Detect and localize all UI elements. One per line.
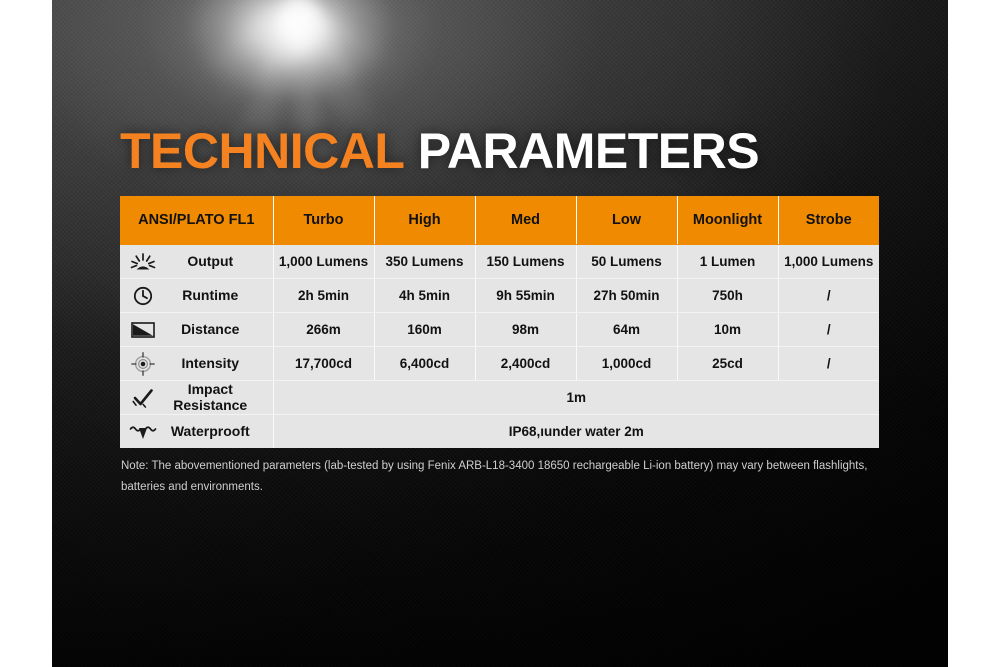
cell-output-med: 150 Lumens xyxy=(475,245,576,279)
cell-intensity-low: 1,000cd xyxy=(576,347,677,381)
cell-runtime-moonlight: 750h xyxy=(677,279,778,313)
waterproof-icon xyxy=(120,423,166,441)
cell-runtime-turbo: 2h 5min xyxy=(273,279,374,313)
cell-output-strobe: 1,000 Lumens xyxy=(778,245,879,279)
page-title-plain: PARAMETERS xyxy=(418,123,759,179)
cell-waterproof-value: IP68,ıunder water 2m xyxy=(273,415,879,449)
cell-runtime-low: 27h 50min xyxy=(576,279,677,313)
table-row: Distance 266m 160m 98m 64m 10m / xyxy=(120,313,879,347)
column-header-moonlight: Moonlight xyxy=(677,196,778,245)
cell-runtime-med: 9h 55min xyxy=(475,279,576,313)
cell-output-high: 350 Lumens xyxy=(374,245,475,279)
cell-distance-turbo: 266m xyxy=(273,313,374,347)
cell-intensity-moonlight: 25cd xyxy=(677,347,778,381)
row-label-intensity: Intensity xyxy=(120,347,273,381)
product-spec-banner: TECHNICAL PARAMETERS ANSI/PLATO FL1 Turb… xyxy=(0,0,1000,667)
cell-output-turbo: 1,000 Lumens xyxy=(273,245,374,279)
column-header-high: High xyxy=(374,196,475,245)
column-header-low: Low xyxy=(576,196,677,245)
clock-icon xyxy=(120,285,166,307)
table-row: Intensity 17,700cd 6,400cd 2,400cd 1,000… xyxy=(120,347,879,381)
column-header-med: Med xyxy=(475,196,576,245)
cell-intensity-med: 2,400cd xyxy=(475,347,576,381)
beam-distance-icon xyxy=(120,321,166,339)
row-label-text: Intensity xyxy=(166,356,273,371)
row-label-text: Output xyxy=(166,254,273,269)
row-label-text: Runtime xyxy=(166,288,273,303)
column-header-standard: ANSI/PLATO FL1 xyxy=(120,196,273,245)
cell-impact-resistance-value: 1m xyxy=(273,381,879,415)
table-row: Runtime 2h 5min 4h 5min 9h 55min 27h 50m… xyxy=(120,279,879,313)
cell-intensity-strobe: / xyxy=(778,347,879,381)
cell-intensity-high: 6,400cd xyxy=(374,347,475,381)
footnote-text: Note: The abovementioned parameters (lab… xyxy=(121,456,881,499)
row-label-waterproof: Waterprooft xyxy=(120,415,273,449)
technical-parameters-table: ANSI/PLATO FL1 Turbo High Med Low Moonli… xyxy=(120,196,879,448)
table-row: Output 1,000 Lumens 350 Lumens 150 Lumen… xyxy=(120,245,879,279)
cell-output-moonlight: 1 Lumen xyxy=(677,245,778,279)
table-row: ImpactResistance 1m xyxy=(120,381,879,415)
cell-runtime-strobe: / xyxy=(778,279,879,313)
row-label-text: ImpactResistance xyxy=(166,382,273,412)
row-label-impact-resistance: ImpactResistance xyxy=(120,381,273,415)
column-header-turbo: Turbo xyxy=(273,196,374,245)
page-title-accent: TECHNICAL xyxy=(120,123,404,179)
row-label-output: Output xyxy=(120,245,273,279)
impact-resistance-icon xyxy=(120,387,166,409)
row-label-distance: Distance xyxy=(120,313,273,347)
cell-distance-high: 160m xyxy=(374,313,475,347)
cell-runtime-high: 4h 5min xyxy=(374,279,475,313)
row-label-text: Waterprooft xyxy=(166,424,273,439)
cell-output-low: 50 Lumens xyxy=(576,245,677,279)
row-label-text: Distance xyxy=(166,322,273,337)
intensity-target-icon xyxy=(120,352,166,376)
table-header-row: ANSI/PLATO FL1 Turbo High Med Low Moonli… xyxy=(120,196,879,245)
column-header-strobe: Strobe xyxy=(778,196,879,245)
light-burst-icon xyxy=(120,252,166,272)
page-title: TECHNICAL PARAMETERS xyxy=(120,126,759,176)
row-label-runtime: Runtime xyxy=(120,279,273,313)
cell-distance-strobe: / xyxy=(778,313,879,347)
cell-distance-med: 98m xyxy=(475,313,576,347)
cell-distance-moonlight: 10m xyxy=(677,313,778,347)
cell-distance-low: 64m xyxy=(576,313,677,347)
table-row: Waterprooft IP68,ıunder water 2m xyxy=(120,415,879,449)
cell-intensity-turbo: 17,700cd xyxy=(273,347,374,381)
